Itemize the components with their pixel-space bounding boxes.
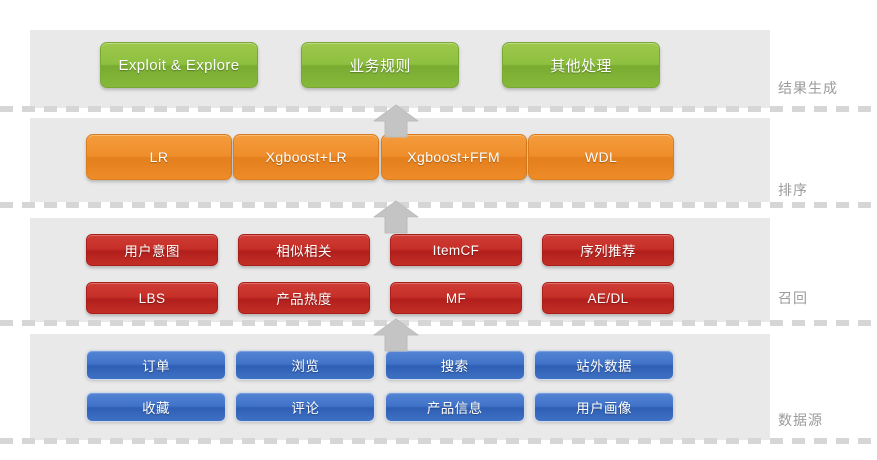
node-row-recall-1: 用户意图相似相关ItemCF序列推荐 [30,234,730,266]
node-recall-2-2[interactable]: 产品热度 [238,282,370,314]
node-recall-1-1[interactable]: 用户意图 [86,234,218,266]
node-result-generation-1-3[interactable]: 其他处理 [502,42,660,88]
layer-divider-4 [0,438,877,444]
node-ranking-1-1[interactable]: LR [86,134,232,180]
node-row-result-generation-1: Exploit & Explore业务规则其他处理 [30,42,730,88]
node-data-source-1-2[interactable]: 浏览 [235,350,375,380]
architecture-diagram: Exploit & Explore业务规则其他处理结果生成LRXgboost+L… [0,0,877,460]
node-data-source-2-4[interactable]: 用户画像 [534,392,674,422]
node-recall-1-4[interactable]: 序列推荐 [542,234,674,266]
node-ranking-1-3[interactable]: Xgboost+FFM [381,134,527,180]
stage-label-ranking: 排序 [778,180,808,200]
node-data-source-1-3[interactable]: 搜索 [385,350,525,380]
stage-label-result-generation: 结果生成 [778,78,838,98]
node-recall-2-3[interactable]: MF [390,282,522,314]
stage-label-recall: 召回 [778,288,808,308]
node-data-source-2-2[interactable]: 评论 [235,392,375,422]
layer-divider-3 [0,320,877,326]
node-recall-1-3[interactable]: ItemCF [390,234,522,266]
node-result-generation-1-2[interactable]: 业务规则 [301,42,459,88]
node-data-source-2-3[interactable]: 产品信息 [385,392,525,422]
stage-label-data-source: 数据源 [778,410,823,430]
node-row-recall-2: LBS产品热度MFAE/DL [30,282,730,314]
arrow-data-to-recall-icon [373,318,419,352]
node-recall-2-4[interactable]: AE/DL [542,282,674,314]
node-recall-2-1[interactable]: LBS [86,282,218,314]
node-ranking-1-2[interactable]: Xgboost+LR [233,134,379,180]
node-row-data-source-1: 订单浏览搜索站外数据 [30,350,730,380]
node-result-generation-1-1[interactable]: Exploit & Explore [100,42,258,88]
node-row-data-source-2: 收藏评论产品信息用户画像 [30,392,730,422]
layer-divider-2 [0,202,877,208]
arrow-ranking-to-result-icon [373,104,419,138]
node-ranking-1-4[interactable]: WDL [528,134,674,180]
node-recall-1-2[interactable]: 相似相关 [238,234,370,266]
node-data-source-1-1[interactable]: 订单 [86,350,226,380]
node-data-source-1-4[interactable]: 站外数据 [534,350,674,380]
arrow-recall-to-ranking-icon [373,200,419,234]
node-data-source-2-1[interactable]: 收藏 [86,392,226,422]
layer-divider-1 [0,106,877,112]
node-row-ranking-1: LRXgboost+LRXgboost+FFMWDL [30,134,730,180]
